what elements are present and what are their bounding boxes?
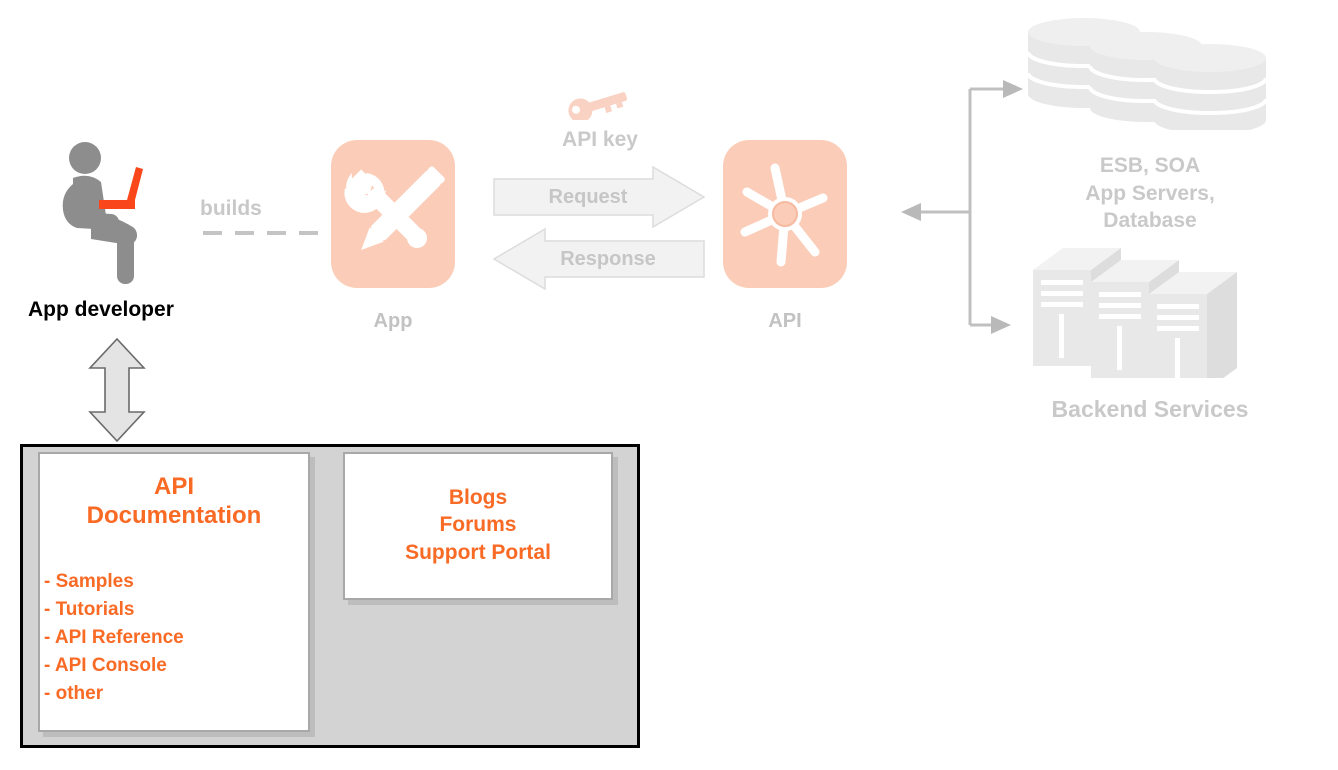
community-text-line: Support Portal: [343, 539, 613, 566]
api-star-hub-icon: [723, 140, 847, 288]
api-tile[interactable]: [723, 140, 847, 288]
list-item: - API Reference: [44, 624, 304, 652]
server-racks-icon: [1033, 248, 1265, 378]
app-tile[interactable]: [331, 140, 455, 288]
vertical-double-arrow-icon: [88, 338, 146, 442]
api-key-label: API key: [520, 126, 680, 154]
community-text-line: Forums: [343, 511, 613, 538]
api-label: API: [723, 310, 847, 333]
community-text-line: Blogs: [343, 484, 613, 511]
community-text: Blogs Forums Support Portal: [343, 484, 613, 566]
backend-services-label: Backend Services: [1010, 394, 1290, 424]
list-item: - Samples: [44, 568, 304, 596]
diagram-canvas: App developer builds App: [0, 0, 1338, 770]
api-documentation-title-line: API: [38, 472, 310, 501]
request-label: Request: [493, 166, 683, 228]
wrench-and-pencil-icon: [331, 140, 455, 288]
key-icon: [565, 86, 631, 120]
database-label-line: ESB, SOA: [1028, 152, 1272, 180]
database-label-line: Database: [1028, 207, 1272, 235]
builds-label: builds: [200, 197, 262, 221]
builds-dashed-connector: [203, 222, 321, 226]
api-documentation-title: API Documentation: [38, 472, 310, 531]
database-label-line: App Servers,: [1028, 180, 1272, 208]
response-label: Response: [513, 228, 703, 290]
list-item: - API Console: [44, 652, 304, 680]
api-documentation-list: - Samples - Tutorials - API Reference - …: [44, 568, 304, 708]
developer-label: App developer: [28, 298, 174, 322]
database-cylinders-icon: [1028, 18, 1272, 130]
api-documentation-title-line: Documentation: [38, 501, 310, 530]
app-label: App: [331, 310, 455, 333]
list-item: - Tutorials: [44, 596, 304, 624]
database-label: ESB, SOA App Servers, Database: [1028, 152, 1272, 235]
list-item: - other: [44, 680, 304, 708]
